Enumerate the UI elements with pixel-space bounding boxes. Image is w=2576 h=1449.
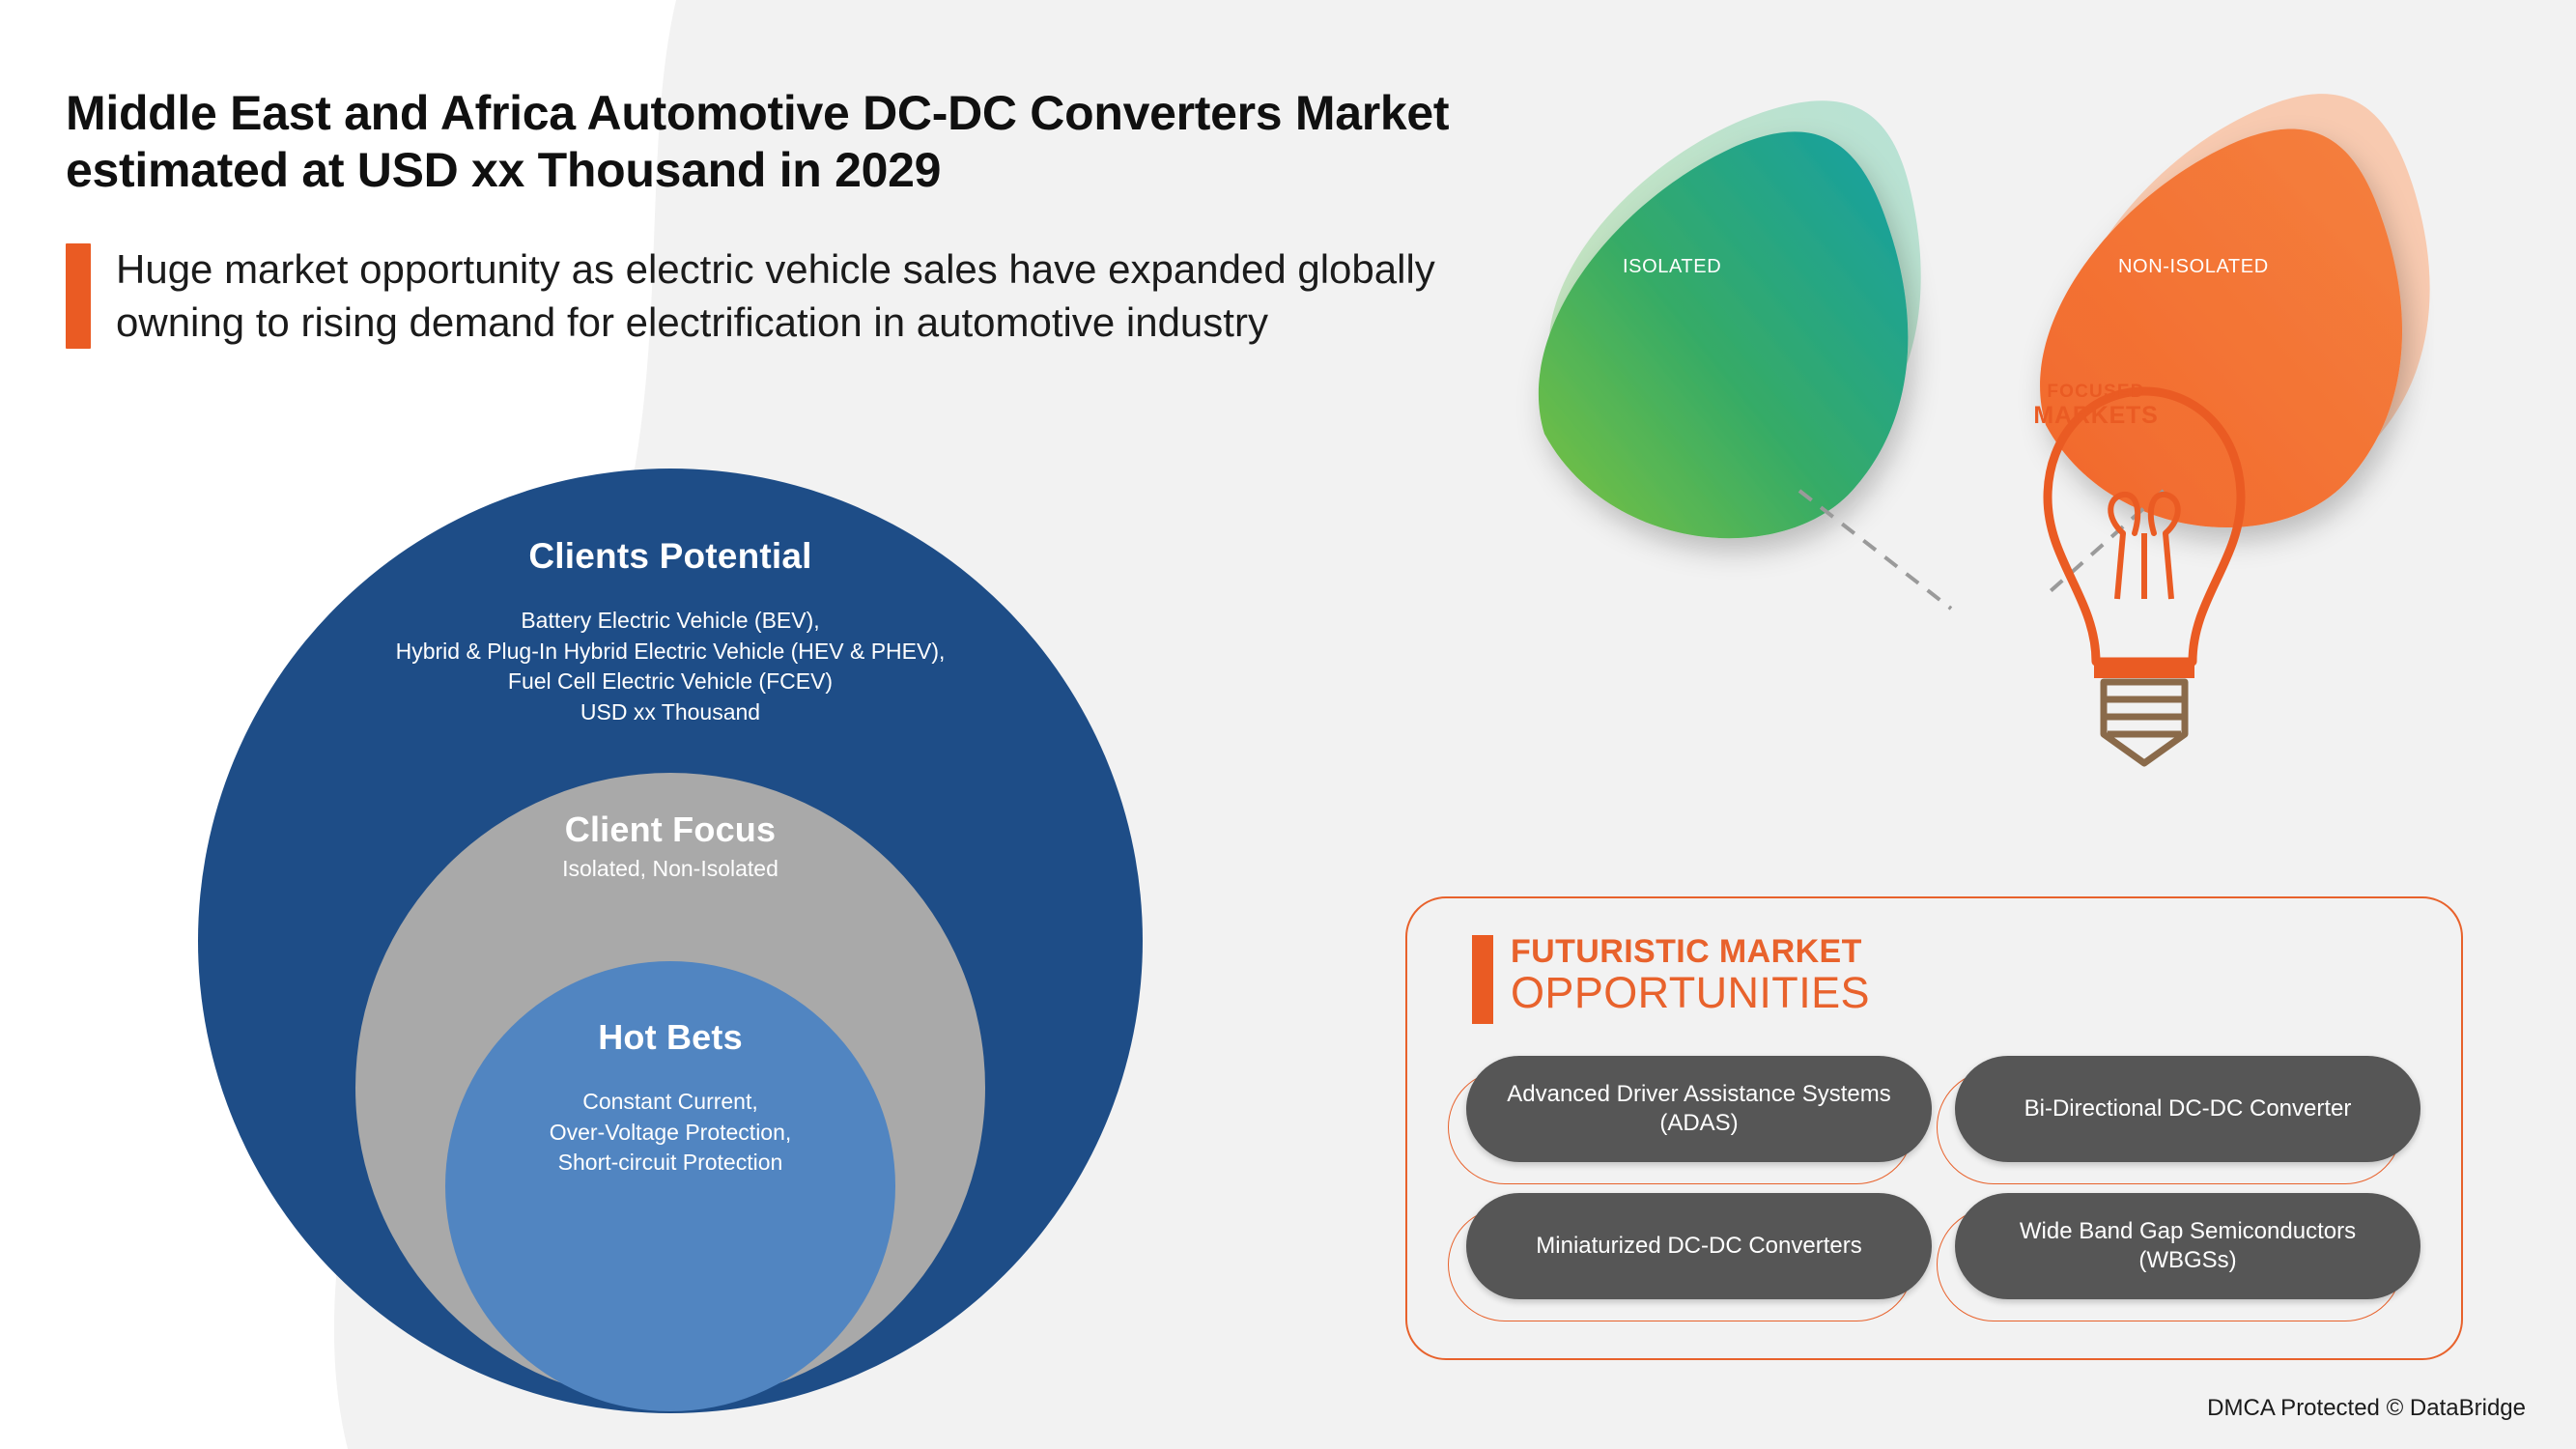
panel-heading-line2: OPPORTUNITIES xyxy=(1511,970,1870,1015)
panel-heading: FUTURISTIC MARKET OPPORTUNITIES xyxy=(1472,935,1870,1024)
circle-title-hot-bets: Hot Bets xyxy=(598,1017,743,1058)
blob-label-non-isolated: NON-ISOLATED xyxy=(2118,256,2269,278)
circle-body-clients-potential: Battery Electric Vehicle (BEV), Hybrid &… xyxy=(396,606,946,728)
infographic-canvas: Middle East and Africa Automotive DC-DC … xyxy=(0,0,2576,1449)
panel-heading-line1: FUTURISTIC MARKET xyxy=(1511,935,1870,968)
opportunity-card[interactable]: Miniaturized DC-DC Converters xyxy=(1466,1193,1932,1299)
circle-title-clients-potential: Clients Potential xyxy=(528,536,811,577)
opportunity-card-shell: Advanced Driver Assistance Systems (ADAS… xyxy=(1448,1070,1913,1184)
opportunity-card[interactable]: Wide Band Gap Semiconductors (WBGSs) xyxy=(1955,1193,2420,1299)
circle-body-hot-bets: Constant Current, Over-Voltage Protectio… xyxy=(550,1087,792,1179)
markets-graphics xyxy=(1468,58,2434,792)
subtitle-text: Huge market opportunity as electric vehi… xyxy=(116,243,1476,349)
connector-isolated xyxy=(1799,491,1951,609)
opportunity-card-shell: Miniaturized DC-DC Converters xyxy=(1448,1207,1913,1321)
copyright-footer: DMCA Protected © DataBridge xyxy=(2207,1395,2526,1422)
opportunity-card-list: Advanced Driver Assistance Systems (ADAS… xyxy=(1448,1070,2423,1321)
subtitle-block: Huge market opportunity as electric vehi… xyxy=(66,243,1476,349)
concentric-circles-diagram: Clients Potential Battery Electric Vehic… xyxy=(198,469,1143,1413)
opportunity-card[interactable]: Bi-Directional DC-DC Converter xyxy=(1955,1056,2420,1162)
opportunity-card-shell: Wide Band Gap Semiconductors (WBGSs) xyxy=(1937,1207,2402,1321)
bulb-label: FOCUSED MARKETS xyxy=(1999,382,2193,429)
opportunity-card-shell: Bi-Directional DC-DC Converter xyxy=(1937,1070,2402,1184)
circle-body-client-focus: Isolated, Non-Isolated xyxy=(562,854,778,885)
bulb-label-line2: MARKETS xyxy=(1999,403,2193,430)
blob-label-isolated: ISOLATED xyxy=(1623,256,1721,278)
circle-title-client-focus: Client Focus xyxy=(565,810,776,850)
page-title: Middle East and Africa Automotive DC-DC … xyxy=(66,85,1650,199)
focused-markets-diagram: ISOLATED NON-ISOLATED FOCUSED MARKETS xyxy=(1468,58,2434,792)
subtitle-accent-bar xyxy=(66,243,91,349)
bulb-label-line1: FOCUSED xyxy=(1999,382,2193,403)
circle-hot-bets: Hot Bets Constant Current, Over-Voltage … xyxy=(445,961,895,1411)
panel-accent-bar xyxy=(1472,935,1493,1024)
opportunity-card[interactable]: Advanced Driver Assistance Systems (ADAS… xyxy=(1466,1056,1932,1162)
futuristic-market-opportunities-panel: FUTURISTIC MARKET OPPORTUNITIES Advanced… xyxy=(1405,896,2463,1360)
